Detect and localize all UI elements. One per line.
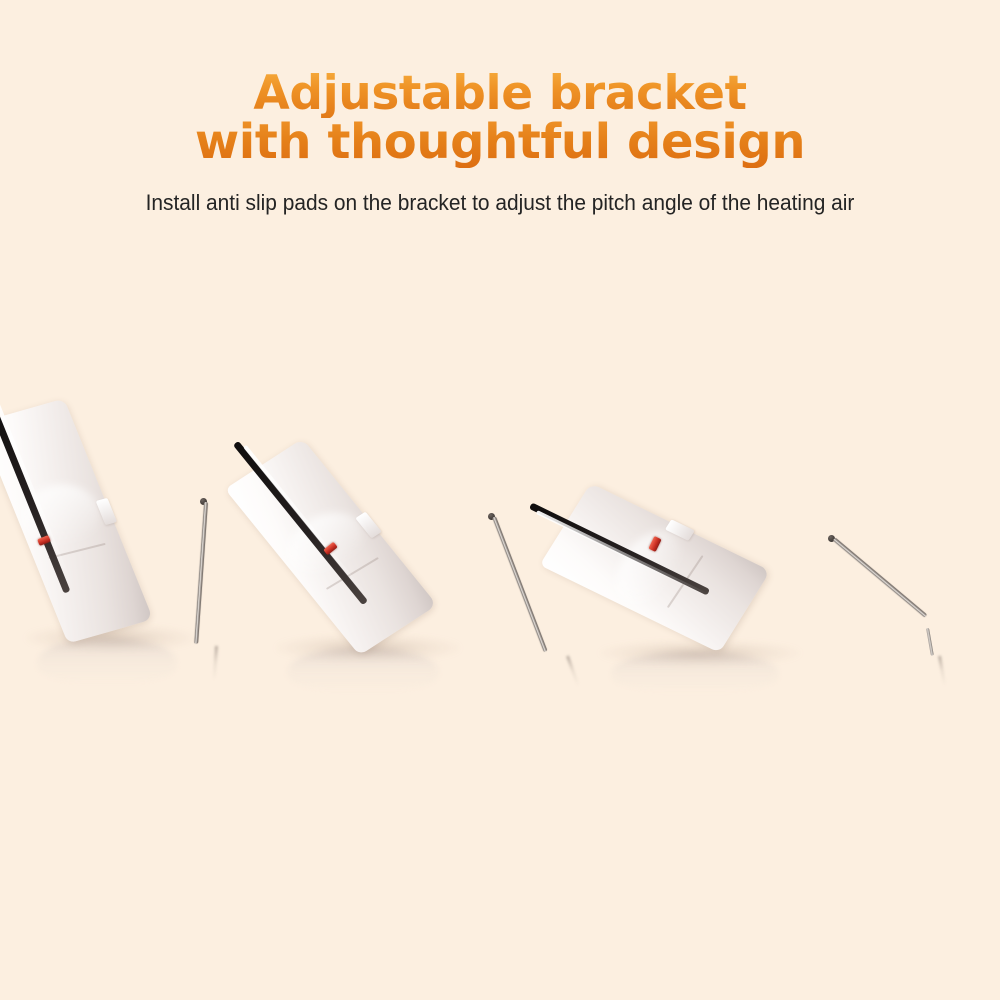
kickstand-shallow[interactable] <box>833 537 927 617</box>
reflection-stand-steep <box>213 646 218 680</box>
contact-shadow-shallow <box>600 640 800 666</box>
stand-hinge-nub-medium <box>355 512 381 539</box>
heater-body-steep <box>0 398 153 643</box>
kickstand-medium[interactable] <box>492 516 547 652</box>
stand-hinge-nub-steep <box>96 498 117 525</box>
product-scene <box>0 0 1000 1000</box>
kickstand-foot-shallow[interactable] <box>926 628 934 656</box>
product-feature-banner: Adjustable bracket with thoughtful desig… <box>0 0 1000 1000</box>
stand-hinge-nub-shallow <box>665 519 695 541</box>
reflection-stand-shallow <box>938 656 946 686</box>
reflection-stand-medium <box>566 655 580 686</box>
kickstand-steep[interactable] <box>194 502 208 644</box>
